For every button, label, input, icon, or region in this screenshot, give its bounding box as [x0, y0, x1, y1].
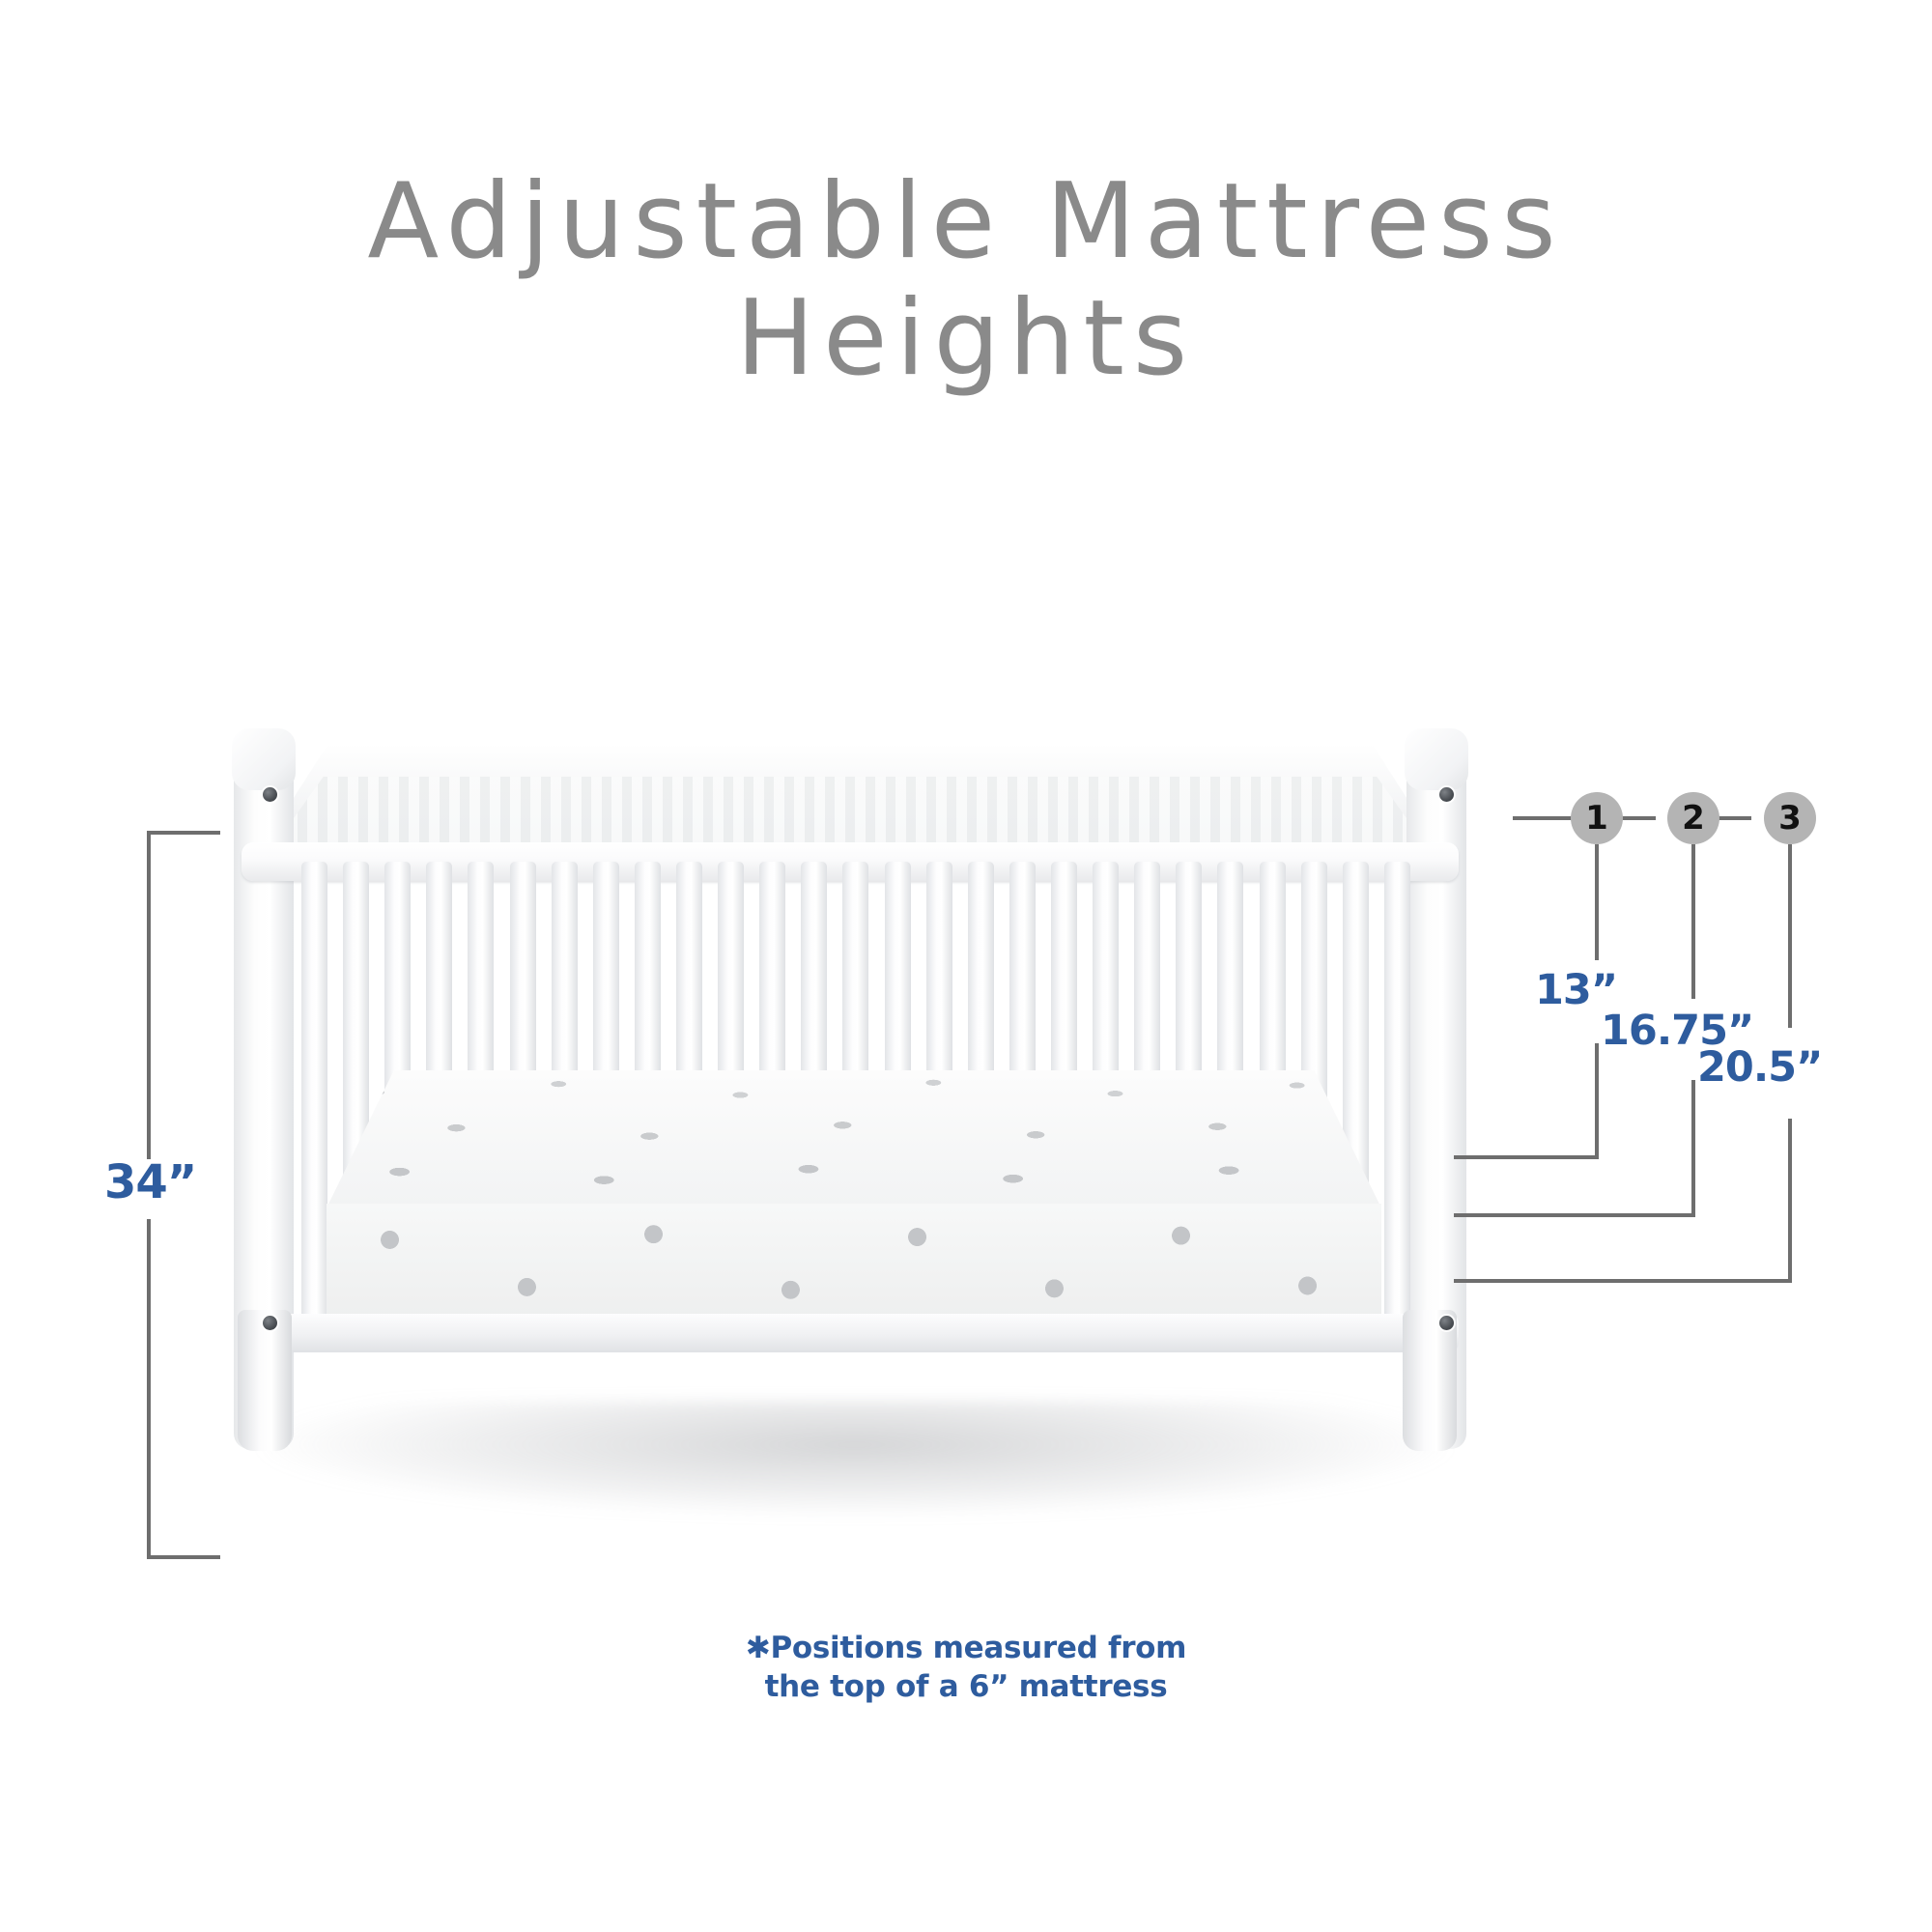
position-label-3: 20.5” [1697, 1043, 1822, 1092]
floor-shadow [261, 1401, 1449, 1517]
crib-illustration [241, 734, 1459, 1584]
overall-height-label: 34” [104, 1155, 196, 1209]
crib-post-cap-right [1405, 728, 1468, 790]
leader-turn-2 [1454, 1213, 1695, 1217]
dimension-line-upper [147, 831, 151, 1159]
leader-down-3a [1788, 844, 1792, 1028]
position-badge-1[interactable]: 1 [1571, 792, 1623, 844]
dimension-tick-top [147, 831, 220, 835]
leader-turn-3 [1454, 1279, 1792, 1283]
leader-down-1a [1595, 844, 1599, 960]
leader-in-1 [1513, 816, 1573, 820]
page-title: Adjustable Mattress Heights [0, 164, 1932, 398]
bolt-icon [263, 787, 277, 802]
bolt-icon [1439, 1316, 1454, 1330]
bolt-icon [1439, 787, 1454, 802]
position-badge-3[interactable]: 3 [1764, 792, 1816, 844]
dimension-tick-bottom [147, 1555, 220, 1559]
crib-leg-right [1403, 1310, 1457, 1451]
bolt-icon [263, 1316, 277, 1330]
footnote-text: ✱Positions measured from the top of a 6”… [0, 1629, 1932, 1707]
crib-post-cap-left [232, 728, 296, 790]
position-badge-2[interactable]: 2 [1667, 792, 1719, 844]
mattress-top-surface [286, 1070, 1422, 1207]
crib-bottom-rail [241, 1314, 1459, 1352]
leader-down-2b [1691, 1080, 1695, 1217]
leader-down-3b [1788, 1119, 1792, 1283]
mattress-with-sheet [286, 1070, 1422, 1343]
dimension-line-lower [147, 1219, 151, 1559]
leader-turn-1 [1454, 1155, 1599, 1159]
leader-down-1b [1595, 1043, 1599, 1159]
leader-down-2a [1691, 844, 1695, 999]
crib-leg-left [238, 1310, 292, 1451]
infographic-canvas: Adjustable Mattress Heights [0, 0, 1932, 1932]
